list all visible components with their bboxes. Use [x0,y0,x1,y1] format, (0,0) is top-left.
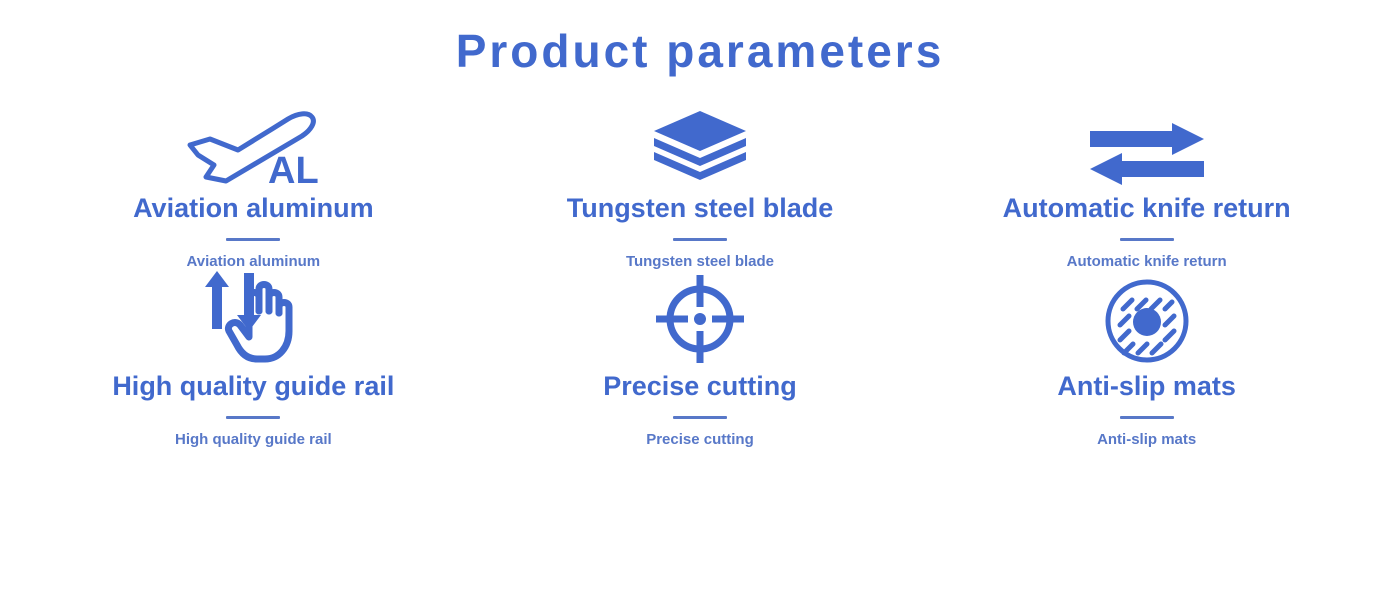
feature-title: Anti-slip mats [1057,371,1236,402]
airplane-badge-label: AL [268,150,319,187]
feature-divider [673,416,727,419]
layer-stack-icon [650,101,750,187]
feature-subtitle: Precise cutting [646,431,754,449]
anti-slip-texture-icon [1103,279,1191,365]
feature-card-high-quality-guide-rail: High quality guide rail High quality gui… [30,271,477,449]
feature-subtitle: High quality guide rail [175,431,332,449]
two-way-arrows-icon [1088,101,1206,187]
feature-title: Automatic knife return [1003,193,1291,224]
feature-divider [226,416,280,419]
feature-subtitle: Automatic knife return [1067,253,1227,271]
feature-grid: AL Aviation aluminum Aviation aluminum T… [30,77,1370,449]
product-parameters-page: Product parameters AL Aviation aluminum … [0,0,1400,600]
feature-card-aviation-aluminum: AL Aviation aluminum Aviation aluminum [30,93,477,271]
hand-swipe-gesture-icon [201,279,305,365]
feature-subtitle: Anti-slip mats [1097,431,1196,449]
feature-divider [1120,416,1174,419]
feature-card-anti-slip-mats: Anti-slip mats Anti-slip mats [923,271,1370,449]
page-title: Product parameters [0,0,1400,77]
feature-title: Tungsten steel blade [567,193,834,224]
feature-divider [1120,238,1174,241]
feature-title: Precise cutting [603,371,797,402]
feature-card-automatic-knife-return: Automatic knife return Automatic knife r… [923,93,1370,271]
feature-title: High quality guide rail [112,371,394,402]
feature-title: Aviation aluminum [133,193,374,224]
feature-subtitle: Tungsten steel blade [626,253,774,271]
airplane-aluminum-icon: AL [180,101,326,187]
feature-card-tungsten-steel-blade: Tungsten steel blade Tungsten steel blad… [477,93,924,271]
feature-card-precise-cutting: Precise cutting Precise cutting [477,271,924,449]
feature-divider [673,238,727,241]
feature-divider [226,238,280,241]
crosshair-target-icon [654,279,746,365]
